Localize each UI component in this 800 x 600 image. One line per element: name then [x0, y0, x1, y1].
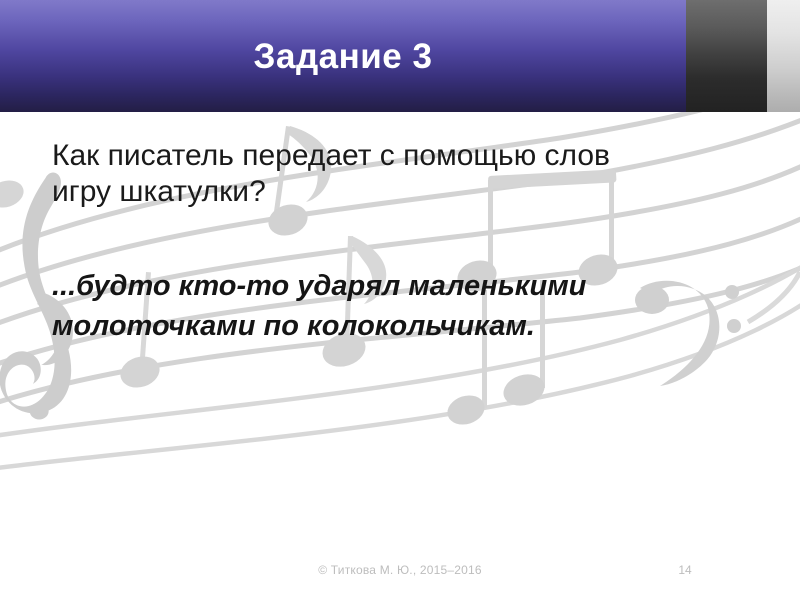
- slide-body: Как писатель передает с помощью слов игр…: [52, 138, 752, 346]
- flag-accent-right: [748, 272, 800, 322]
- slide-header: Задание 3: [0, 0, 800, 112]
- slide-canvas: Задание 3 Как писатель передает с помощь…: [0, 0, 800, 600]
- header-light-block: [767, 0, 800, 112]
- note-left-edge: [0, 176, 27, 212]
- page-title: Задание 3: [0, 36, 686, 78]
- answer-quote-text: ...будто кто-то ударял маленькими молото…: [52, 266, 672, 346]
- header-dark-block: [686, 0, 767, 112]
- question-text: Как писатель передает с помощью слов игр…: [52, 138, 662, 210]
- footer-page-number: 14: [660, 563, 710, 577]
